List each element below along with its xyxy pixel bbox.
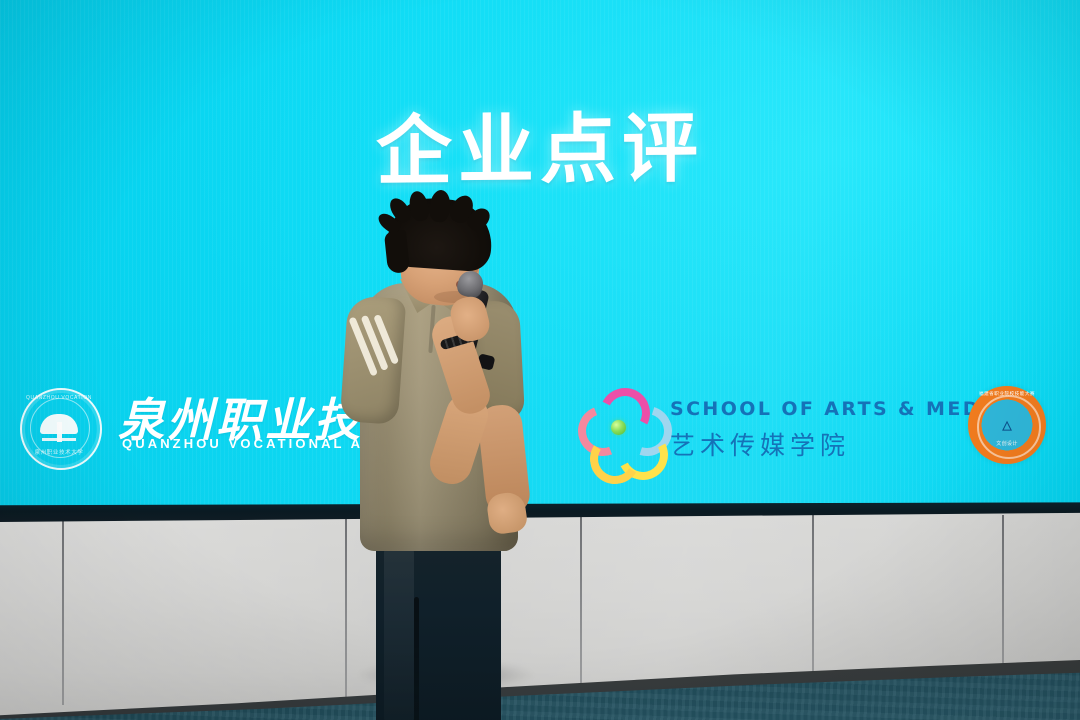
speaker [330, 205, 560, 720]
school-english-name: SCHOOL OF ARTS & MEDIA [670, 398, 1007, 420]
badge-ring-text: 福建省职业院校技能大赛 [976, 391, 1038, 397]
trouser-leg-split [414, 597, 419, 720]
wall-panel-seam [1002, 515, 1004, 665]
seal-ring-top-text: QUANZHOU VOCATIONAL AND TECHNICAL [26, 395, 92, 407]
university-seal-icon: QUANZHOU VOCATIONAL AND TECHNICAL 泉州职业技术… [18, 388, 110, 466]
trouser-highlight [384, 545, 414, 720]
pinwheel-core-icon [611, 420, 626, 435]
school-chinese-name: 艺术传媒学院 [670, 426, 850, 462]
presentation-photo: 企业点评 QUANZHOU VOCATIONAL AND TECHNICAL 泉… [0, 0, 1080, 720]
wall-panel-seam [580, 515, 582, 691]
hair-sideburn [384, 230, 410, 274]
competition-badge-icon: 福建省职业院校技能大赛 ▵ 文创设计 [968, 386, 1052, 466]
badge-sub-text: 文创设计 [982, 440, 1032, 447]
school-of-arts-media-logo: SCHOOL OF ARTS & MEDIA 艺术传媒学院 [572, 384, 912, 472]
wall-panel-seam [62, 515, 64, 705]
pinwheel-icon [576, 390, 660, 466]
seal-ring-bottom-text: 泉州职业技术大学 [26, 448, 92, 460]
wall-panel-seam [812, 515, 814, 675]
badge-center-mark-icon: ▵ [994, 412, 1020, 438]
slide-title: 企业点评 [0, 82, 1080, 203]
seal-base-shape [42, 438, 76, 441]
